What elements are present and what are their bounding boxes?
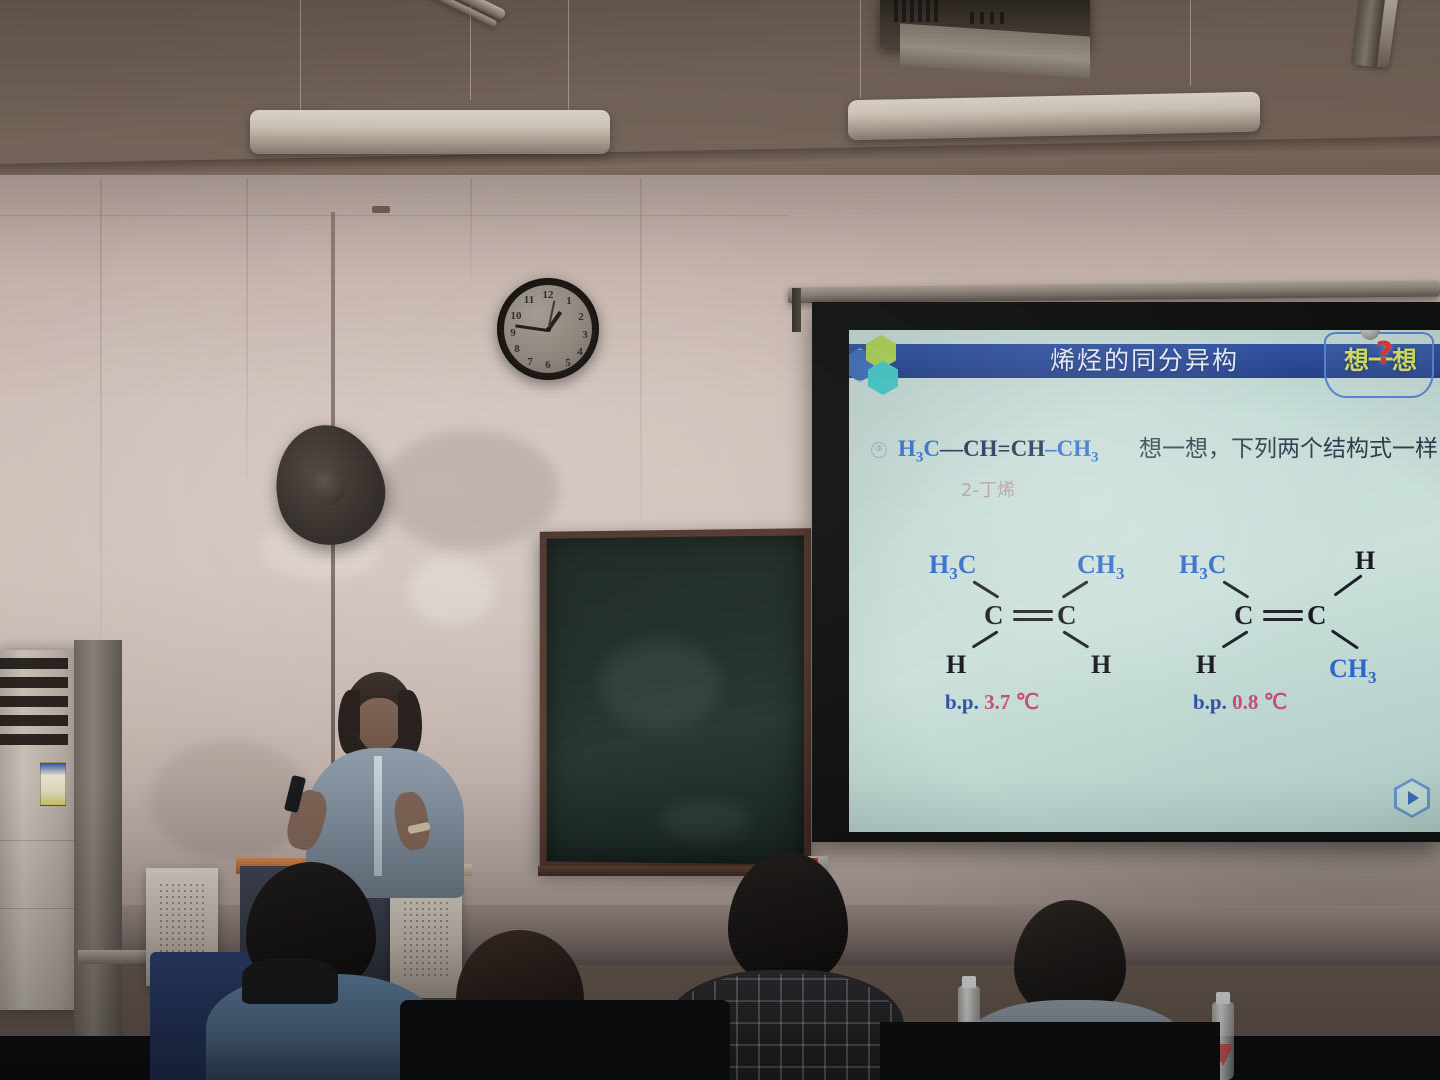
atom-label-carbon-right: C [1057, 602, 1077, 628]
compound-name-label: 2-丁烯 [961, 476, 1015, 502]
wall-seam-vertical [640, 178, 642, 518]
slide-question-text: 想一想，下列两个结构式一样 [1139, 433, 1438, 465]
structural-formula: H3C—CH=CH–CH3 [898, 434, 1099, 473]
audience-member-3 [700, 852, 910, 1080]
wall-seam-vertical [470, 178, 472, 278]
clock-numeral: 4 [573, 346, 587, 358]
boiling-point-2: b.p. 0.8 ℃ [1193, 690, 1287, 715]
light-suspension-wire [300, 0, 301, 120]
audience-1-collar [242, 958, 338, 1004]
energy-rating-label [40, 762, 66, 806]
teacher-hair-side [398, 690, 422, 756]
bond-bottom-right [1331, 629, 1359, 649]
wall-seam [0, 215, 790, 216]
fan-hub [306, 461, 350, 509]
bond-top-right [1334, 574, 1363, 596]
clock-numeral: 1 [562, 295, 576, 307]
clock-numeral: 9 [506, 327, 520, 339]
bp-value: 0.8 ℃ [1232, 690, 1287, 714]
shirt-zipper [374, 756, 382, 876]
boiling-point-1: b.p. 3.7 ℃ [945, 690, 1039, 715]
clock-numeral: 2 [574, 311, 588, 323]
atom-label-bottom-left: H [946, 652, 966, 678]
classroom-photo: 12 1 2 3 4 5 6 7 8 9 10 11 [0, 0, 1440, 1080]
ceiling-light-tube [250, 110, 610, 154]
wall-column [74, 640, 122, 1040]
double-bond [1013, 610, 1053, 621]
clock-numeral: 5 [561, 357, 575, 369]
next-slide-hex-button[interactable] [1394, 778, 1430, 818]
atom-label-bottom-left: H [1196, 652, 1216, 678]
clock-numeral: 10 [509, 310, 523, 322]
atom-label-carbon-left: C [984, 602, 1004, 628]
screen-bracket [792, 288, 801, 332]
audience-3-head [728, 852, 848, 986]
bp-value: 3.7 ℃ [984, 690, 1039, 714]
bullet-marker: ③ [871, 442, 887, 458]
wall-seam-vertical [100, 178, 102, 638]
desk-edge-front [1240, 1046, 1440, 1080]
clock-numeral: 7 [523, 356, 537, 368]
atom-label-top-right: H [1355, 548, 1375, 574]
clock-numeral: 12 [541, 289, 555, 301]
play-triangle-icon [1408, 791, 1419, 805]
atom-label-bottom-right: CH3 [1329, 656, 1377, 691]
bond-bottom-left [1222, 630, 1249, 648]
light-suspension-wire [568, 0, 569, 112]
atom-label-top-left: H3C [929, 552, 977, 587]
fan-shadow [380, 430, 560, 550]
clock-face: 12 1 2 3 4 5 6 7 8 9 10 11 [504, 285, 592, 373]
bp-label: b.p. [945, 690, 979, 714]
bottle-cap [962, 976, 976, 988]
bottle-cap [1216, 992, 1230, 1004]
wall-clock: 12 1 2 3 4 5 6 7 8 9 10 11 [497, 278, 599, 380]
atom-label-carbon-left: C [1234, 602, 1254, 628]
bond-top-left [973, 580, 1000, 598]
bond-bottom-right [1063, 630, 1090, 648]
molecule-trans-2-butene: H3C H C C H CH3 b.p. 0.8 ℃ [1179, 552, 1409, 682]
bond-top-left [1223, 580, 1250, 598]
clock-minute-hand [515, 324, 548, 332]
bp-label: b.p. [1193, 690, 1227, 714]
hexagon-logo [849, 336, 921, 388]
molecule-cis-2-butene: H3C CH3 C C H H b.p. 3.7 ℃ [929, 552, 1159, 682]
light-suspension-wire [1190, 0, 1191, 86]
chalk-smudge [600, 640, 720, 730]
desk-edge-front [880, 1022, 1220, 1080]
clock-numeral: 3 [578, 329, 592, 341]
bond-top-right [1062, 580, 1089, 598]
clock-numeral: 6 [541, 359, 555, 371]
wall-scuff [408, 556, 496, 626]
bond-bottom-left [972, 630, 999, 648]
chalk-smudge [660, 800, 750, 840]
projected-slide: 烯烃的同分异构 想一想 ? ③ H3C—CH=CH–CH3 想一想，下列两个结构… [849, 330, 1440, 832]
light-suspension-wire [860, 0, 861, 98]
think-badge-question-mark: ? [1376, 336, 1393, 371]
desk-edge-front [400, 1000, 730, 1080]
clock-numeral: 8 [510, 343, 524, 355]
wall-seam-vertical [246, 178, 248, 478]
clock-numeral: 11 [522, 294, 536, 306]
atom-label-carbon-right: C [1307, 602, 1327, 628]
atom-label-top-left: H3C [1179, 552, 1227, 587]
audience-member-1 [228, 862, 418, 1080]
presenter-teacher [300, 672, 470, 892]
teacher-hair-side [338, 690, 360, 754]
wall-bracket [372, 206, 390, 213]
clock-center-pin [546, 327, 551, 332]
formula-line-row: ③ H3C—CH=CH–CH3 想一想，下列两个结构式一样 [871, 434, 1431, 464]
atom-label-bottom-right: H [1091, 652, 1111, 678]
double-bond [1263, 610, 1303, 621]
